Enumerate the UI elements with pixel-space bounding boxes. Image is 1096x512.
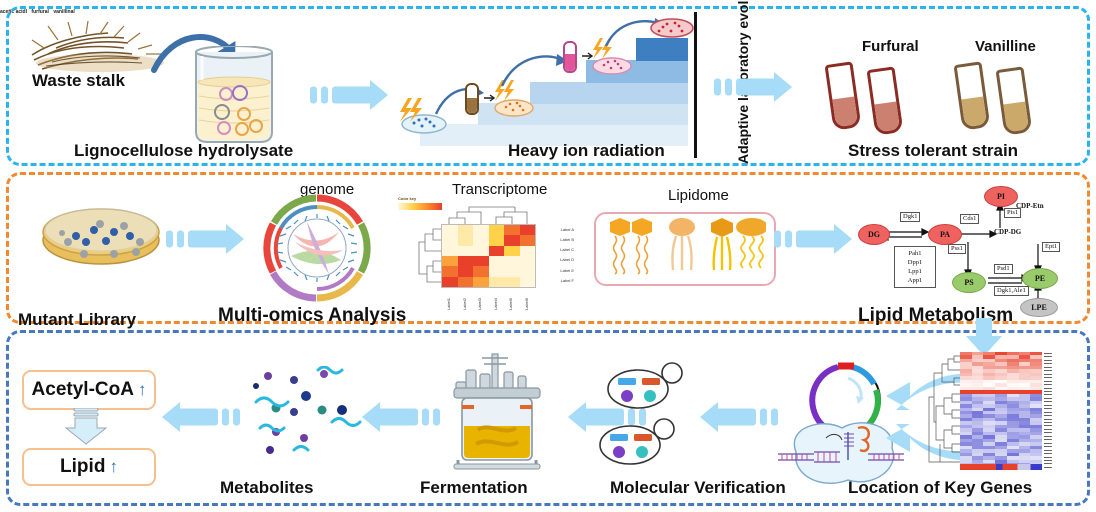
heatmap-cell [489, 256, 505, 266]
heatmap-cell [520, 235, 536, 245]
node-dg: DG [858, 224, 890, 245]
flow-arrow-1 [310, 78, 388, 112]
heatmap-cell [504, 256, 520, 266]
color-key-label: Color key [398, 196, 416, 201]
heatmap-cell [489, 277, 505, 287]
stage4-final-dish [646, 14, 698, 40]
hydrolysate-caption: Lignocellulose hydrolysate [74, 141, 293, 161]
lipid-up-arrow: ↑ [109, 457, 118, 477]
stress-tolerant-caption: Stress tolerant strain [848, 141, 1018, 161]
acetyl-coa-up-arrow: ↑ [138, 380, 147, 400]
enzyme-cds1: Cds1 [960, 214, 979, 224]
heatmap-cell-grid [441, 224, 536, 288]
acetyl-coa-label: Acetyl-CoA [32, 379, 134, 401]
heatmap-cell [473, 277, 489, 287]
heatmap-cell [458, 256, 474, 266]
waste-stalk-label: Waste stalk [32, 71, 125, 91]
heatmap-row-label: Label D [560, 257, 574, 262]
heatmap-cell [504, 266, 520, 276]
gene-row-label: ▬▬▬ [1044, 466, 1052, 469]
heatmap-cell [504, 235, 520, 245]
enzyme-psd1: Psd1 [994, 264, 1013, 274]
heatmap-cell [458, 246, 474, 256]
vanilline-tube-label: Vanilline [975, 38, 1036, 55]
heatmap-col-label: Label1 [446, 298, 451, 310]
key-genes-caption: Location of Key Genes [848, 478, 1032, 498]
heatmap-cell [504, 277, 520, 287]
enzyme-ept1: Ept1 [1042, 242, 1060, 252]
node-pi: PI [984, 186, 1018, 207]
heatmap-cell [489, 246, 505, 256]
heatmap-cell [520, 256, 536, 266]
circos-genome-plot [258, 190, 376, 302]
hydrolysate-beaker [188, 46, 280, 146]
enzyme-stack-pah1-dpp1-lpp1-app1: Pah1Dpp1Lpp1App1 [894, 246, 936, 288]
acetyl-to-lipid-arrow [60, 408, 112, 446]
heatmap-cell [504, 246, 520, 256]
heatmap-cell [473, 256, 489, 266]
enzyme-pss1: Pss1 [948, 244, 966, 254]
heatmap-col-label: Label6 [524, 298, 529, 310]
heatmap-cell [473, 266, 489, 276]
heatmap-cell [520, 225, 536, 235]
gene-dendrogram [928, 352, 960, 470]
node-ps: PS [952, 272, 986, 293]
flow-arrow-left-1 [162, 400, 240, 434]
heatmap-col-label: Label4 [493, 298, 498, 310]
lipid-molecule-icons [602, 218, 766, 276]
gene-heatmap-grid [960, 352, 1042, 470]
heatmap-col-label: Label2 [462, 298, 467, 310]
heatmap-cell [489, 235, 505, 245]
enzyme-dgk1: Dgk1 [900, 212, 920, 222]
multi-omics-caption: Multi-omics Analysis [218, 305, 406, 327]
heatmap-cell [458, 266, 474, 276]
lipid-label: Lipid [60, 456, 105, 478]
gene-heatmap-annotation-bar [960, 464, 1042, 470]
heatmap-row-label: Label A [561, 227, 574, 232]
flow-arrow-4 [774, 222, 852, 256]
heatmap-cell [458, 235, 474, 245]
acetyl-coa-box: Acetyl-CoA ↑ [22, 370, 156, 410]
flow-arrow-left-2 [362, 400, 440, 434]
node-lpe: LPE [1020, 298, 1058, 317]
column-dendrogram [441, 204, 534, 224]
enzyme-stack-item: Pah1 [895, 249, 935, 258]
heatmap-row-label: Label E [560, 268, 574, 273]
metabolite-particles [246, 366, 372, 458]
enzyme-stack-item: Lpp1 [895, 267, 935, 276]
mutant-library-plate [40, 206, 162, 268]
metabolites-caption: Metabolites [220, 478, 314, 498]
heatmap-cell [442, 256, 458, 266]
lipid-box: Lipid ↑ [22, 448, 156, 486]
enzyme-dgk1-ale1: Dgk1,Ale1 [994, 286, 1029, 296]
heatmap-cell [520, 246, 536, 256]
yeast-cell-top [604, 362, 690, 410]
heatmap-col-label: Label3 [477, 298, 482, 310]
heatmap-row-label: Label B [560, 237, 574, 242]
lipidome-label: Lipidome [668, 187, 729, 204]
flow-arrow-left-4 [700, 400, 778, 434]
ale-divider [694, 12, 697, 158]
fermenter-vessel [442, 352, 552, 470]
row-dendrogram [416, 224, 441, 286]
heatmap-cell [442, 246, 458, 256]
mutant-library-caption: Mutant Library [18, 310, 136, 330]
heatmap-cell [442, 225, 458, 235]
heatmap-cell [489, 225, 505, 235]
lipid-metabolism-network: DG PA PI PS PE LPE CDP-DG CDP-Etn Dgk1 C… [848, 186, 1086, 316]
yeast-cell-bottom [596, 418, 682, 466]
enzyme-stack-item: App1 [895, 276, 935, 285]
heatmap-cell [442, 277, 458, 287]
node-pa: PA [928, 224, 962, 245]
flow-arrow-2 [714, 70, 792, 104]
heatmap-cell [504, 225, 520, 235]
transcriptome-heatmap: Color key Label ALabel BLabel CLabel DLa… [396, 196, 574, 312]
heatmap-cell [442, 266, 458, 276]
heatmap-row-label: Label C [560, 247, 574, 252]
heatmap-cell [520, 266, 536, 276]
heatmap-cell [489, 266, 505, 276]
key-genes-heatmap: ▬▬▬▬▬▬▬▬▬▬▬▬▬▬▬▬▬▬▬▬▬▬▬▬▬▬▬▬▬▬▬▬▬▬▬▬▬▬▬▬… [928, 352, 1066, 474]
heatmap-row-label: Label F [561, 278, 574, 283]
enzyme-pis1: Pis1 [1004, 208, 1021, 218]
furfural-tube-label: Furfural [862, 38, 919, 55]
color-key-bar [398, 203, 442, 210]
heatmap-cell [442, 235, 458, 245]
flow-arrow-3 [166, 222, 244, 256]
heatmap-cell [458, 277, 474, 287]
enzyme-stack-item: Dpp1 [895, 258, 935, 267]
heatmap-cell [473, 246, 489, 256]
fermentation-caption: Fermentation [420, 478, 528, 498]
heavy-ion-radiation-caption: Heavy ion radiation [508, 141, 665, 161]
heatmap-cell [458, 225, 474, 235]
heatmap-col-label: Label5 [508, 298, 513, 310]
heatmap-cell [473, 235, 489, 245]
heatmap-cell [473, 225, 489, 235]
molecular-verification-caption: Molecular Verification [610, 478, 786, 498]
heatmap-cell [520, 277, 536, 287]
node-cdp-dg: CDP-DG [994, 228, 1021, 236]
